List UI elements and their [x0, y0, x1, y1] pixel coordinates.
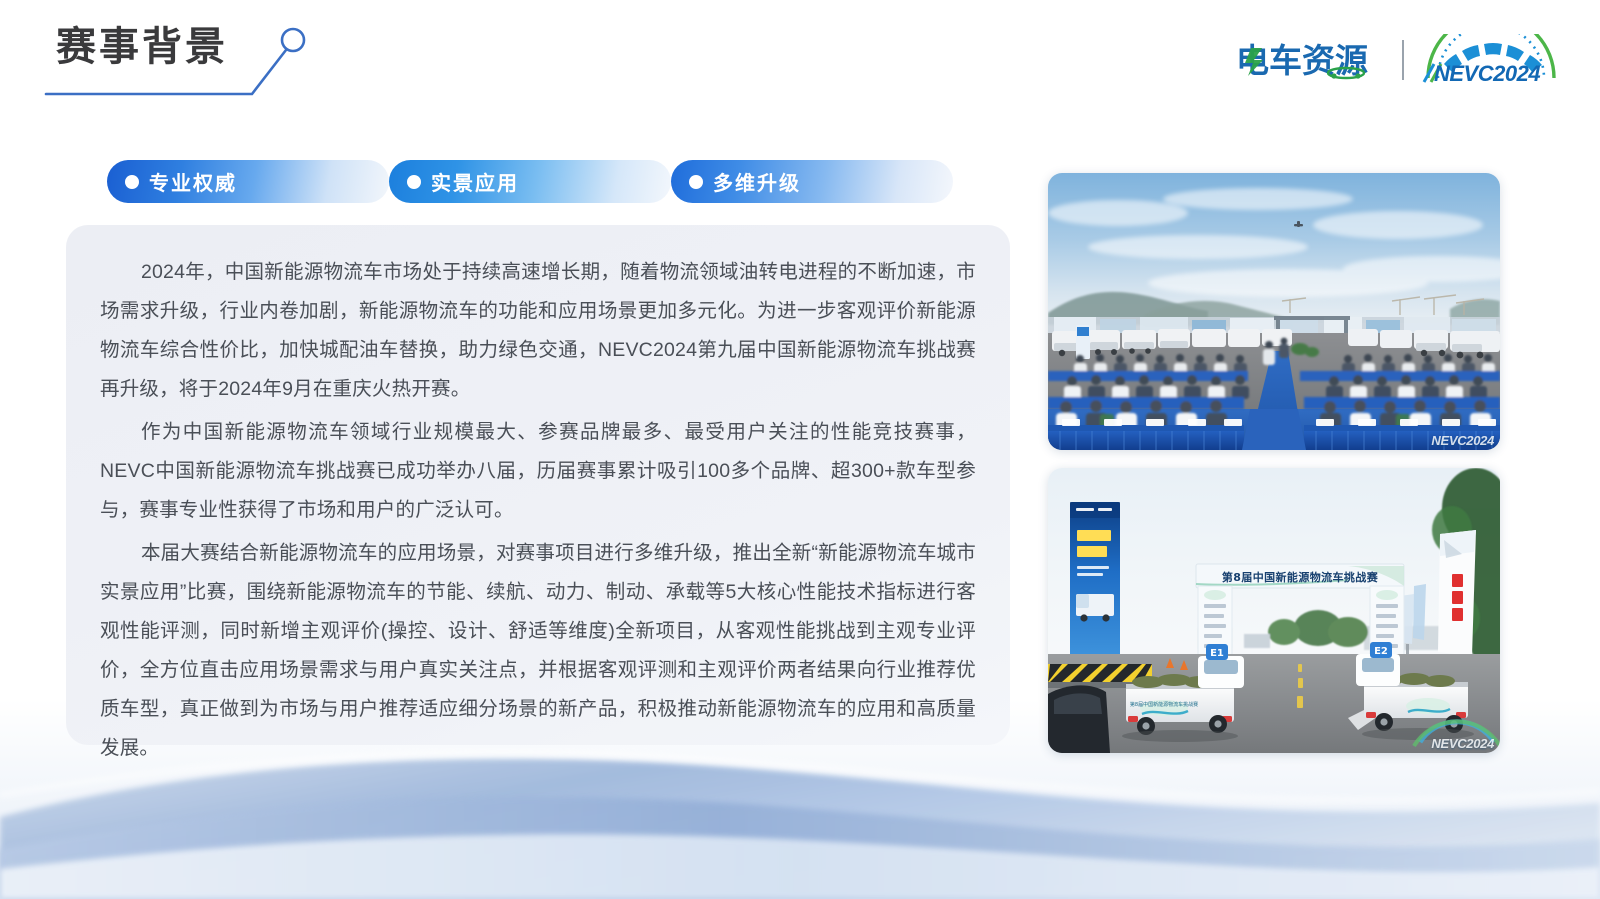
badge-label: 实景应用	[431, 167, 519, 196]
badge-label: 专业权威	[149, 167, 237, 196]
dianche-ziyuan-logo-glyphs: 电车资源	[1236, 38, 1388, 82]
bullet-dot-icon	[689, 175, 703, 189]
truck-number-plate-e2: E2	[1374, 646, 1388, 657]
background-text-panel: 2024年，中国新能源物流车市场处于持续高速增长期，随着物流领域油转电进程的不断…	[66, 225, 1010, 745]
paragraph-this-edition: 本届大赛结合新能源物流车的应用场景，对赛事项目进行多维升级，推出全新“新能源物流…	[100, 534, 976, 768]
slide-canvas: 赛事背景 电车资源	[0, 0, 1600, 899]
paragraph-market-overview: 2024年，中国新能源物流车市场处于持续高速增长期，随着物流领域油转电进程的不断…	[100, 253, 976, 409]
badge-professional-authority[interactable]: 专业权威	[107, 160, 389, 203]
bullet-dot-icon	[125, 175, 139, 189]
truck-number-plate-e1: E1	[1210, 648, 1224, 659]
page-title: 赛事背景	[56, 24, 228, 70]
challenge-start-gate-photo: 第8届中国新能源物流车挑战赛	[1048, 468, 1500, 753]
opening-ceremony-photo: NEVC2024	[1048, 173, 1500, 450]
gate-banner-text: 第8届中国新能源物流车挑战赛	[1222, 570, 1379, 584]
brand-logo-group: 电车资源	[1236, 32, 1564, 88]
dianche-ziyuan-logo: 电车资源	[1236, 38, 1388, 82]
feature-badge-row: 专业权威 实景应用 多维升级	[107, 160, 953, 203]
bullet-dot-icon	[407, 175, 421, 189]
paragraph-event-history: 作为中国新能源物流车领域行业规模最大、参赛品牌最多、最受用户关注的性能竞技赛事，…	[100, 413, 976, 530]
nevc-logo-text: NEVC2024	[1434, 63, 1540, 85]
badge-multidimensional-upgrade[interactable]: 多维升级	[671, 160, 953, 203]
brand-divider	[1402, 40, 1404, 80]
badge-real-scene-application[interactable]: 实景应用	[389, 160, 671, 203]
svg-text:第8届中国新能源物流车挑战赛: 第8届中国新能源物流车挑战赛	[1130, 701, 1198, 708]
nevc-2024-logo: NEVC2024	[1418, 34, 1564, 86]
badge-label: 多维升级	[713, 167, 801, 196]
